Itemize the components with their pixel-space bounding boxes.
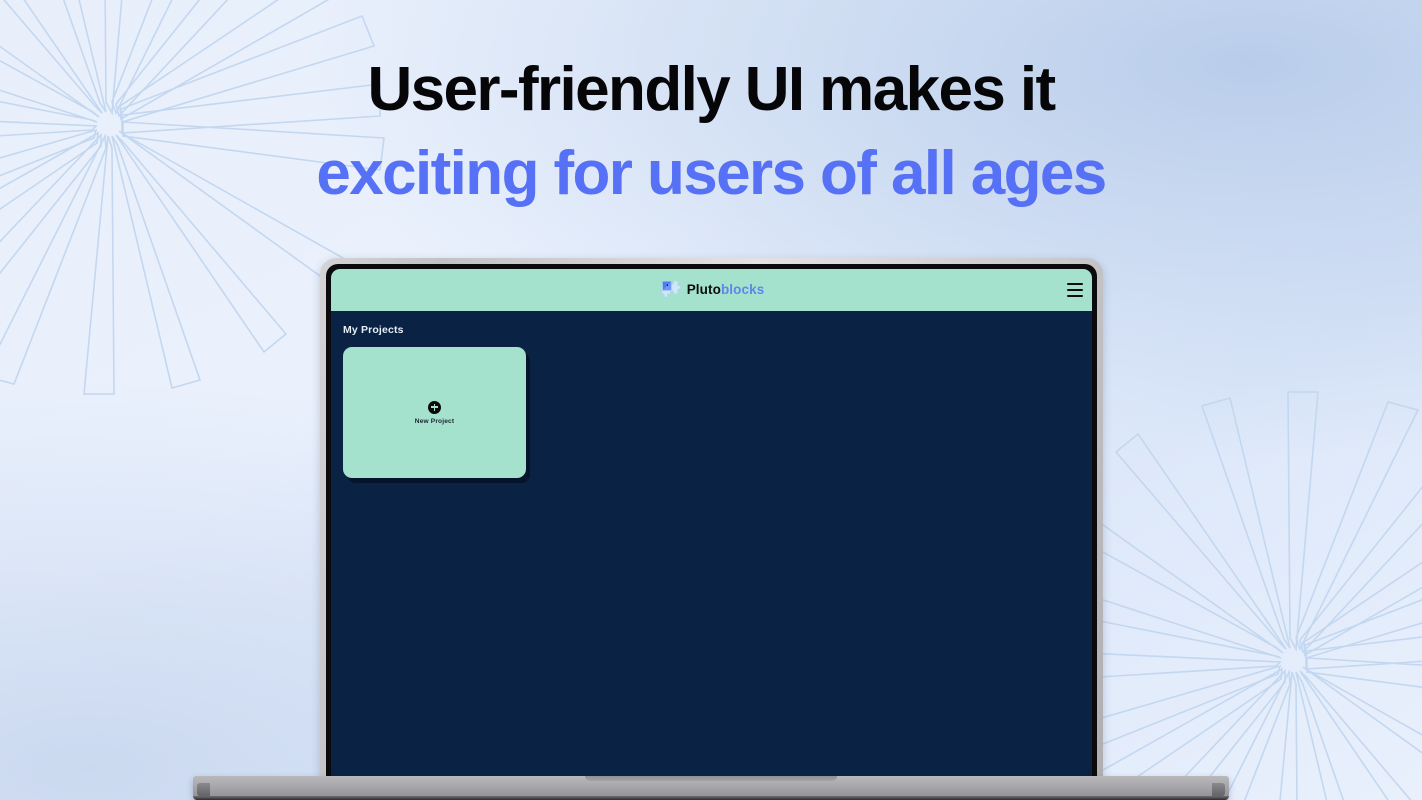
menu-line-3: [1067, 295, 1083, 297]
laptop-lid: Plutoblocks My Projects: [320, 258, 1103, 780]
laptop-bezel: Plutoblocks My Projects: [326, 264, 1097, 780]
brand-wordmark: Plutoblocks: [687, 283, 765, 297]
page-title: User-friendly UI makes it exciting for u…: [0, 48, 1422, 216]
laptop-base: [193, 776, 1229, 800]
puzzle-arrow-logo-icon: [659, 279, 681, 301]
brand-logo[interactable]: Plutoblocks: [659, 279, 765, 301]
laptop-base-notch: [585, 776, 837, 781]
menu-line-1: [1067, 283, 1083, 285]
new-project-card[interactable]: New Project: [343, 347, 526, 478]
menu-line-2: [1067, 289, 1083, 291]
laptop-base-edge: [193, 796, 1229, 800]
my-projects-heading: My Projects: [343, 324, 1092, 336]
new-project-label: New Project: [415, 418, 454, 425]
brand-wordmark-pluto: Pluto: [687, 282, 721, 297]
brand-wordmark-blocks: blocks: [721, 282, 764, 297]
app-screen: Plutoblocks My Projects: [331, 269, 1092, 780]
app-body: My Projects New Project: [331, 311, 1092, 478]
headline-line-2: exciting for users of all ages: [0, 132, 1422, 216]
project-grid: New Project: [343, 347, 1092, 478]
hamburger-menu-icon[interactable]: [1067, 283, 1083, 297]
laptop-mockup: Plutoblocks My Projects: [193, 258, 1229, 800]
headline-line-1: User-friendly UI makes it: [0, 48, 1422, 132]
laptop-foot-right: [1212, 783, 1225, 796]
laptop-foot-left: [197, 783, 210, 796]
slide-canvas: User-friendly UI makes it exciting for u…: [0, 0, 1422, 800]
app-topbar: Plutoblocks: [331, 269, 1092, 311]
plus-circle-icon: [428, 401, 441, 414]
